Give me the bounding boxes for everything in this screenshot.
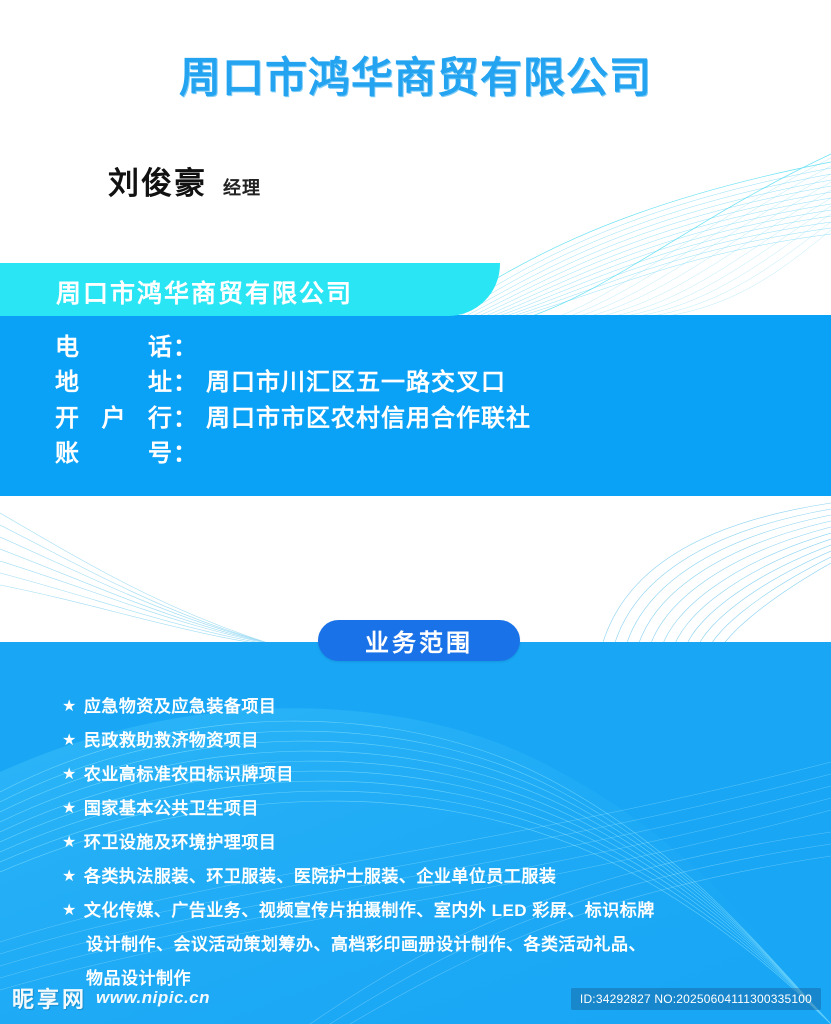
contact-band: 周口市鸿华商贸有限公司 电话 ： 地址 ： 周口市川汇区五一路交叉口 开户行 ：… xyxy=(0,263,831,496)
scope-item-label: 文化传媒、广告业务、视频宣传片拍摄制作、室内外 LED 彩屏、标识标牌 xyxy=(84,894,655,928)
scope-item-label: 农业高标准农田标识牌项目 xyxy=(84,758,294,792)
contact-row-account: 账号 ： xyxy=(55,439,531,468)
company-title: 周口市鸿华商贸有限公司 xyxy=(0,44,831,105)
scope-item: ★ 各类执法服装、环卫服装、医院护士服装、企业单位员工服装 xyxy=(0,860,831,894)
id-badge: ID:34292827 NO:20250604111300335100 xyxy=(571,988,821,1010)
scope-item-label: 各类执法服装、环卫服装、医院护士服装、企业单位员工服装 xyxy=(84,860,557,894)
scope-item-label: 环卫设施及环境护理项目 xyxy=(84,826,277,860)
contact-colon-bank: ： xyxy=(173,404,198,433)
contact-label-account: 账号 xyxy=(55,439,173,468)
watermark-logo: 昵享网 xyxy=(12,982,87,1014)
scope-section: ★ 应急物资及应急装备项目 ★ 民政救助救济物资项目 ★ 农业高标准农田标识牌项… xyxy=(0,642,831,1024)
scope-badge: 业务范围 xyxy=(318,620,520,661)
star-icon: ★ xyxy=(62,758,77,792)
contact-label-bank: 开户行 xyxy=(55,404,173,433)
star-icon: ★ xyxy=(62,690,77,724)
contact-banner-company: 周口市鸿华商贸有限公司 xyxy=(56,274,353,310)
scope-item: ★ 民政救助救济物资项目 xyxy=(0,724,831,758)
star-icon: ★ xyxy=(62,826,77,860)
star-icon: ★ xyxy=(62,724,77,758)
scope-item: ★ 环卫设施及环境护理项目 xyxy=(0,826,831,860)
scope-badge-label: 业务范围 xyxy=(365,623,473,658)
scope-list: ★ 应急物资及应急装备项目 ★ 民政救助救济物资项目 ★ 农业高标准农田标识牌项… xyxy=(0,690,831,996)
person-name: 刘俊豪 xyxy=(108,158,207,203)
contact-row-bank: 开户行 ： 周口市市区农村信用合作联社 xyxy=(55,404,531,433)
person-job-title: 经理 xyxy=(223,174,261,203)
scope-item: ★ 文化传媒、广告业务、视频宣传片拍摄制作、室内外 LED 彩屏、标识标牌 xyxy=(0,894,831,928)
contact-colon-phone: ： xyxy=(173,333,198,362)
star-icon: ★ xyxy=(62,792,77,826)
scope-item: ★ 应急物资及应急装备项目 xyxy=(0,690,831,724)
contact-row-address: 地址 ： 周口市川汇区五一路交叉口 xyxy=(55,368,531,397)
scope-item-label: 国家基本公共卫生项目 xyxy=(84,792,259,826)
scope-item: ★ 国家基本公共卫生项目 xyxy=(0,792,831,826)
business-card-canvas: 周口市鸿华商贸有限公司 刘俊豪 经理 周口市鸿华商贸有限公司 电话 ： 地址 ：… xyxy=(0,0,831,1024)
contact-label-address: 地址 xyxy=(55,368,173,397)
contact-label-phone: 电话 xyxy=(55,333,173,362)
contact-value-address: 周口市川汇区五一路交叉口 xyxy=(206,368,506,397)
scope-item-label: 民政救助救济物资项目 xyxy=(84,724,259,758)
scope-item: ★ 农业高标准农田标识牌项目 xyxy=(0,758,831,792)
watermark-url: www.nipic.cn xyxy=(96,988,210,1008)
contact-value-bank: 周口市市区农村信用合作联社 xyxy=(206,404,531,433)
scope-item-label: 应急物资及应急装备项目 xyxy=(84,690,277,724)
watermark: 昵享网 www.nipic.cn xyxy=(12,982,210,1014)
person-row: 刘俊豪 经理 xyxy=(108,158,261,203)
scope-item-continuation: 设计制作、会议活动策划筹办、高档彩印画册设计制作、各类活动礼品、 xyxy=(0,928,831,962)
star-icon: ★ xyxy=(62,894,77,928)
star-icon: ★ xyxy=(62,860,77,894)
contact-lines: 电话 ： 地址 ： 周口市川汇区五一路交叉口 开户行 ： 周口市市区农村信用合作… xyxy=(55,333,531,468)
contact-colon-account: ： xyxy=(173,439,198,468)
contact-row-phone: 电话 ： xyxy=(55,333,531,362)
contact-colon-address: ： xyxy=(173,368,198,397)
